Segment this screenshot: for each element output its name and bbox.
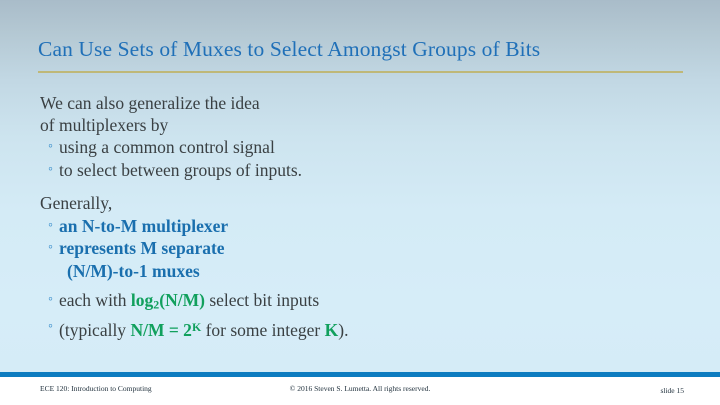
- slide-footer: ECE 120: Introduction to Computing © 201…: [0, 377, 720, 405]
- bullet-icon: ◦: [48, 316, 53, 339]
- bullet-icon: ◦: [48, 136, 53, 159]
- formula-n-over-m: N/M = 2K: [130, 320, 201, 340]
- formula-argument: (N/M): [159, 290, 205, 310]
- intro-line-1: We can also generalize the idea: [40, 93, 720, 115]
- formula-superscript: K: [192, 320, 201, 334]
- page-title: Can Use Sets of Muxes to Select Amongst …: [38, 36, 688, 62]
- block-spacer: [0, 282, 720, 289]
- generally-lead-line: Generally,: [40, 193, 720, 215]
- bullet-icon: ◦: [48, 159, 53, 182]
- list-item-typically-power-of-two: ◦ (typically N/M = 2K for some integer K…: [48, 316, 720, 341]
- list-item-text-suffix: select bit inputs: [205, 290, 319, 310]
- list-item-label: represents M separate: [59, 238, 225, 258]
- list-item-log2-select-bits: ◦ each with log2(N/M) select bit inputs: [48, 289, 720, 316]
- list-item-using-control-signal: ◦ using a common control signal: [48, 136, 720, 159]
- bullet-icon: ◦: [48, 289, 53, 312]
- bullet-icon: ◦: [48, 237, 53, 260]
- bullet-icon: ◦: [48, 215, 53, 238]
- intro-line-2: of multiplexers by: [40, 115, 720, 137]
- list-item-label: an N-to-M multiplexer: [59, 216, 228, 236]
- title-area: Can Use Sets of Muxes to Select Amongst …: [0, 36, 720, 78]
- block-spacer: [0, 181, 720, 193]
- formula-log2: log2(N/M): [131, 290, 205, 310]
- list-item-text-middle: for some integer: [201, 320, 324, 340]
- list-item-label-wrapped: (N/M)-to-1 muxes: [59, 260, 720, 283]
- title-underline-rule: [38, 71, 683, 73]
- footer-copyright: © 2016 Steven S. Lumetta. All rights res…: [0, 384, 720, 393]
- list-item-label: to select between groups of inputs.: [59, 160, 302, 180]
- list-item-text-prefix: each with: [59, 290, 131, 310]
- formula-base: log: [131, 290, 153, 310]
- list-item-text-prefix: (typically: [59, 320, 130, 340]
- list-item-text-suffix: ).: [338, 320, 348, 340]
- list-item-label: using a common control signal: [59, 137, 275, 157]
- list-item-select-groups: ◦ to select between groups of inputs.: [48, 159, 720, 182]
- list-item-n-to-m-multiplexer: ◦ an N-to-M multiplexer: [48, 215, 720, 238]
- slide-body: We can also generalize the idea of multi…: [0, 93, 720, 342]
- slide-canvas: Can Use Sets of Muxes to Select Amongst …: [0, 0, 720, 405]
- formula-base: N/M = 2: [130, 320, 192, 340]
- footer-slide-number: slide 15: [660, 386, 684, 395]
- list-item-represents-m-separate: ◦ represents M separate (N/M)-to-1 muxes: [48, 237, 720, 282]
- formula-variable-k: K: [325, 320, 339, 340]
